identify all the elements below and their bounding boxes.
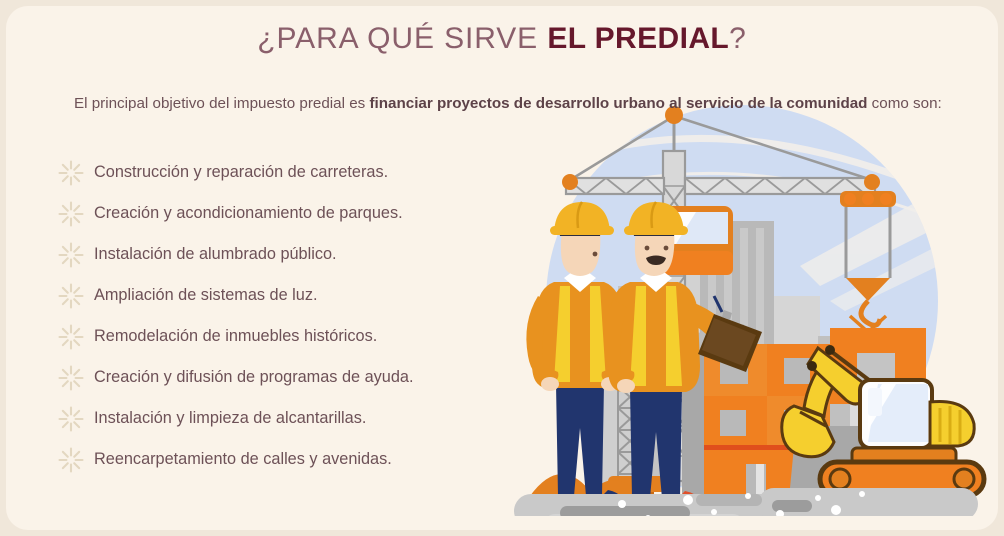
list-item-label: Creación y acondicionamiento de parques. — [94, 205, 403, 221]
intro-part1: El principal objetivo del impuesto predi… — [74, 95, 369, 112]
sunburst-icon — [58, 242, 84, 268]
sunburst-icon — [58, 324, 84, 350]
intro-paragraph: El principal objetivo del impuesto predi… — [74, 92, 949, 115]
intro-bold: financiar proyectos de desarrollo urbano… — [369, 95, 867, 112]
sunburst-icon — [58, 160, 84, 186]
list-item: Reencarpetamiento de calles y avenidas. — [58, 439, 528, 480]
sunburst-icon — [58, 406, 84, 432]
sunburst-icon — [58, 447, 84, 473]
list-item: Creación y acondicionamiento de parques. — [58, 193, 528, 234]
sunburst-icon — [58, 283, 84, 309]
list-item: Remodelación de inmuebles históricos. — [58, 316, 528, 357]
page-title-wrapper: ¿PARA QUÉ SIRVE EL PREDIAL? — [0, 22, 1004, 56]
list-item: Ampliación de sistemas de luz. — [58, 275, 528, 316]
list-item: Instalación de alumbrado público. — [58, 234, 528, 275]
sunburst-icon — [58, 365, 84, 391]
list-item-label: Instalación y limpieza de alcantarillas. — [94, 410, 366, 426]
page-title-highlight: EL PREDIAL — [547, 22, 729, 55]
list-item: Construcción y reparación de carreteras. — [58, 152, 528, 193]
list-item-label: Instalación de alumbrado público. — [94, 246, 337, 262]
page-title-lead: ¿PARA QUÉ SIRVE — [257, 22, 547, 55]
intro-part2: como son: — [867, 95, 941, 112]
list-item: Creación y difusión de programas de ayud… — [58, 357, 528, 398]
list-item-label: Reencarpetamiento de calles y avenidas. — [94, 451, 392, 467]
list-item: Instalación y limpieza de alcantarillas. — [58, 398, 528, 439]
list-item-label: Creación y difusión de programas de ayud… — [94, 369, 413, 385]
page-title-trail: ? — [729, 22, 747, 55]
list-item-label: Construcción y reparación de carreteras. — [94, 164, 388, 180]
list-item-label: Remodelación de inmuebles históricos. — [94, 328, 377, 344]
construction-site-illustration — [500, 96, 1000, 516]
slide-root: ¿PARA QUÉ SIRVE EL PREDIAL? El principal… — [0, 0, 1004, 536]
page-title: ¿PARA QUÉ SIRVE EL PREDIAL? — [0, 22, 1004, 56]
sunburst-icon — [58, 201, 84, 227]
benefits-list: Construcción y reparación de carreteras.… — [58, 152, 528, 480]
list-item-label: Ampliación de sistemas de luz. — [94, 287, 318, 303]
